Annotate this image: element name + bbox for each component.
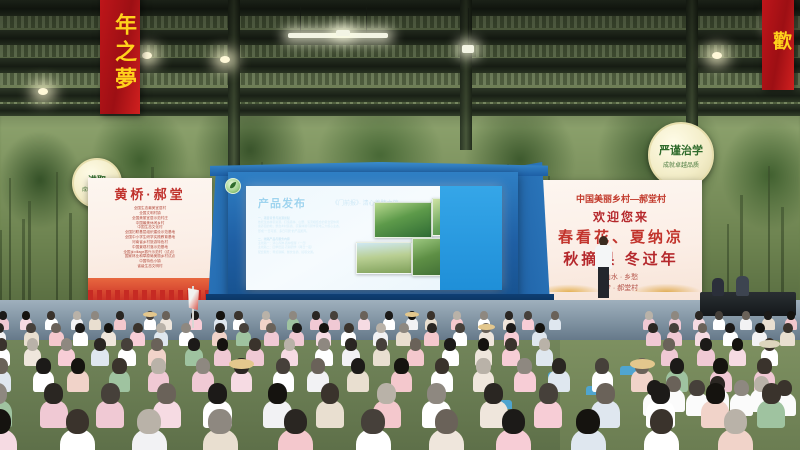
audience-member-head [344, 323, 354, 334]
audience-member-head [734, 380, 749, 397]
audience-member [132, 409, 167, 450]
slide-body-text: 一、项目背景与资源禀赋依托生态林带资源，打造森林、山野、溪流相结合的复合型休闲康… [258, 216, 368, 254]
ceiling-lamp [462, 45, 474, 53]
audience-member-head [444, 338, 456, 351]
audience-member-head [764, 311, 772, 320]
audience-member-head [505, 311, 513, 320]
slide-text-line: 配套服务：导览讲解、餐饮住宿、接驳交通。 [258, 250, 368, 254]
lamp-wire [300, 6, 301, 34]
audience-member-head [360, 311, 368, 320]
audience-member-head [319, 323, 329, 334]
audience-member [60, 409, 95, 450]
right-welcome-banner: 中国美丽乡村—郝堂村 欢迎您来 春看花、夏纳凉 秋摘果 冬过年 山水 · 乡愁 … [540, 180, 702, 304]
audience-member [534, 384, 562, 428]
slide-photo-forest-path [374, 202, 432, 238]
audience-member [757, 384, 785, 428]
audience-member-head [476, 358, 490, 374]
audience-member [89, 311, 101, 330]
audience-member-torso [646, 331, 661, 346]
audience-member-head [66, 409, 89, 434]
audience-member-hat [759, 340, 780, 348]
roof-pillar [460, 0, 472, 150]
audience-member-head [651, 383, 670, 404]
audience-member-torso [89, 318, 101, 330]
tree-trunk [9, 178, 11, 320]
audience-member-head [162, 311, 170, 320]
audience-member-head [484, 383, 503, 404]
audience-member-head [732, 338, 744, 351]
audience-member-head [188, 338, 200, 351]
audience-member-head [268, 383, 287, 404]
stage-presenter [594, 236, 612, 298]
audience-member [347, 358, 369, 392]
ceiling-spotlight [712, 52, 722, 59]
audience-member [0, 409, 17, 450]
audience-member-head [196, 358, 210, 374]
audience-member-head [376, 338, 388, 351]
audience-member-head [156, 323, 166, 334]
audience-member-head [217, 338, 229, 351]
audience-member [740, 311, 752, 330]
audience-member [373, 339, 391, 366]
audience-member-head [26, 323, 36, 334]
audience-member [356, 409, 391, 450]
event-emblem-icon [225, 178, 241, 194]
audience-member [429, 409, 464, 450]
audience-member-head [762, 383, 781, 404]
audience-member-head [284, 338, 296, 351]
audience-member [424, 323, 439, 346]
audience-member-head [292, 323, 302, 334]
audience-member-hat [229, 359, 255, 369]
ceiling-spotlight [220, 56, 230, 63]
audience-member-head [377, 383, 396, 404]
audience-member-head [535, 323, 545, 334]
ceiling-spotlight [38, 88, 48, 95]
audience-member-torso [780, 331, 795, 346]
audience-member-head [137, 409, 160, 434]
audience-member-head [394, 358, 408, 374]
audience-member-head [663, 338, 675, 351]
ceiling-spotlight [142, 52, 152, 59]
right-disc-line2: 成就卓越品质 [663, 160, 699, 169]
audience-member-head [410, 338, 422, 351]
roof-pillar [228, 0, 240, 168]
left-banner-title: 黄桥·郝堂 [88, 184, 212, 203]
audience-member-head [671, 311, 679, 320]
audience-member-torso [96, 400, 124, 428]
audience-member-head [330, 311, 338, 320]
audience-member-torso [514, 370, 536, 392]
audience-member-torso [67, 370, 89, 392]
audience-member-head [524, 311, 532, 320]
right-banner-line4: 秋摘果 冬过年 [540, 248, 702, 269]
audience-member-head [724, 409, 747, 434]
audience-member-hat [405, 312, 419, 318]
audience-member-head [133, 323, 143, 334]
audience-member-head [311, 358, 325, 374]
audience-member-head [502, 409, 525, 434]
seated-audience [0, 300, 800, 450]
audience-member-head [121, 338, 133, 351]
right-banner-line2: 欢迎您来 [540, 208, 702, 225]
audience-member-head [208, 409, 231, 434]
audience-member-head [215, 323, 225, 334]
audience-member-head [505, 338, 517, 351]
audience-member-head [276, 358, 290, 374]
audience-member-head [715, 311, 723, 320]
audience-member [91, 339, 109, 366]
audience-member [264, 323, 279, 346]
audience-member-head [755, 323, 765, 334]
audience-member [358, 311, 370, 330]
presenter-trousers [598, 267, 609, 298]
audience-member-head [706, 383, 725, 404]
audience-member-torso [316, 400, 344, 428]
audience-member-head [262, 311, 270, 320]
left-hanging-banner: 年之夢 [100, 0, 140, 114]
sound-desk-operator-1 [712, 278, 724, 296]
audience-member-head [27, 338, 39, 351]
audience-member-head [783, 323, 793, 334]
slide-photo-village-field [356, 242, 412, 274]
lamp-wire [468, 8, 469, 48]
audience-member-head [284, 409, 307, 434]
audience-member-torso [358, 318, 370, 330]
roof-pillar [686, 0, 698, 126]
right-disc-sign: 严谨治学 成就卓越品质 [648, 122, 714, 188]
audience-member-torso [91, 348, 109, 366]
audience-member [646, 323, 661, 346]
audience-member-hat [478, 324, 496, 331]
audience-member-head [650, 409, 673, 434]
audience-member-head [551, 311, 559, 320]
audience-member-head [455, 323, 465, 334]
wheat-graphic-right [540, 272, 702, 292]
audience-member-head [648, 323, 658, 334]
audience-member-head [0, 358, 8, 374]
audience-member-head [151, 358, 165, 374]
audience-member-head [73, 311, 81, 320]
audience-member-head [289, 311, 297, 320]
audience-member-head [595, 358, 609, 374]
audience-member-head [47, 311, 55, 320]
right-banner-line1: 中国美丽乡村—郝堂村 [540, 192, 702, 205]
audience-member-head [670, 358, 684, 374]
audience-member-head [435, 409, 458, 434]
audience-member [231, 358, 253, 392]
audience-member-head [116, 311, 124, 320]
audience-member-head [71, 358, 85, 374]
audience-member-head [239, 323, 249, 334]
audience-member-head [713, 358, 727, 374]
audience-member-head [249, 338, 261, 351]
audience-member-head [478, 338, 490, 351]
audience-member-head [351, 358, 365, 374]
audience-member-head [539, 338, 551, 351]
audience-member-head [552, 358, 566, 374]
audience-member-head [700, 338, 712, 351]
audience-member [203, 409, 238, 450]
audience-member-head [101, 383, 120, 404]
audience-member-head [0, 409, 11, 434]
audience-member-torso [534, 400, 562, 428]
audience-member-torso [549, 318, 561, 330]
audience-member-head [453, 311, 461, 320]
audience-member-head [596, 383, 615, 404]
audience-member [278, 409, 313, 450]
slide-title: 产品发布 [258, 195, 306, 211]
right-disc-line1: 严谨治学 [659, 142, 703, 158]
audience-member [96, 384, 124, 428]
audience-member-hat [630, 359, 656, 369]
audience-member [514, 358, 536, 392]
audience-member-torso [424, 331, 439, 346]
audience-member-head [517, 358, 531, 374]
audience-member-head [22, 311, 30, 320]
audience-member-head [427, 311, 435, 320]
audience-member-head [94, 338, 106, 351]
audience-member-head [112, 358, 126, 374]
audience-member-head [151, 338, 163, 351]
audience-member [316, 384, 344, 428]
audience-member-head [0, 311, 7, 320]
audience-member-head [376, 323, 386, 334]
audience-member-head [506, 323, 516, 334]
lamp-wire [366, 6, 367, 34]
audience-member-head [695, 311, 703, 320]
audience-member-head [318, 338, 330, 351]
audience-member-head [234, 311, 242, 320]
audience-member-torso [231, 370, 253, 392]
event-scene: 年之夢 歡 进取 成就梦想未来 严谨治学 成就卓越品质 黄桥·郝堂 全国生态最美… [0, 0, 800, 450]
ceiling-lamp [336, 30, 350, 36]
audience-member-head [91, 311, 99, 320]
audience-member [718, 409, 753, 450]
presenter-shirt [595, 245, 612, 269]
audience-member-head [427, 323, 437, 334]
audience-member-head [312, 311, 320, 320]
right-hanging-banner: 歡 [762, 0, 794, 90]
screen-accent-panel [440, 186, 502, 290]
audience-member-head [385, 311, 393, 320]
audience-member [644, 409, 679, 450]
audience-member-head [539, 383, 558, 404]
audience-member-head [669, 323, 679, 334]
audience-member-head [576, 409, 599, 434]
audience-member-head [36, 358, 50, 374]
audience-member [496, 409, 531, 450]
audience-member-torso [347, 370, 369, 392]
sound-desk-operator-2 [736, 276, 749, 296]
audience-member-head [757, 358, 771, 374]
audience-member-torso [264, 331, 279, 346]
audience-member-hat [143, 312, 157, 318]
audience-member-head [321, 383, 340, 404]
audience-member [549, 311, 561, 330]
audience-member-head [399, 323, 409, 334]
audience-member-torso [373, 348, 391, 366]
audience-member-head [216, 311, 224, 320]
audience-member [571, 409, 606, 450]
audience-member-head [361, 409, 384, 434]
audience-member-head [787, 311, 795, 320]
audience-member-head [157, 383, 176, 404]
audience-member [67, 358, 89, 392]
audience-member-head [645, 311, 653, 320]
audience-member-head [427, 383, 446, 404]
audience-member-head [742, 311, 750, 320]
right-banner-line3: 春看花、夏纳凉 [540, 226, 702, 247]
left-banner-honor-list: 全国生态最美宜居村全国文明村镇全国美丽宜居示范村庄中国最美休闲乡村中国生态文化村… [88, 206, 212, 269]
honor-item: 省级生态文明村 [88, 264, 212, 269]
ceremonial-flag [186, 286, 200, 328]
audience-member-head [345, 338, 357, 351]
audience-member-torso [740, 318, 752, 330]
audience-member-head [435, 358, 449, 374]
audience-member-head [61, 338, 73, 351]
audience-member-head [44, 383, 63, 404]
audience-member-head [480, 311, 488, 320]
tree-trunk [56, 172, 58, 320]
audience-member-torso [757, 400, 785, 428]
audience-member [780, 323, 795, 346]
audience-member-head [208, 383, 227, 404]
